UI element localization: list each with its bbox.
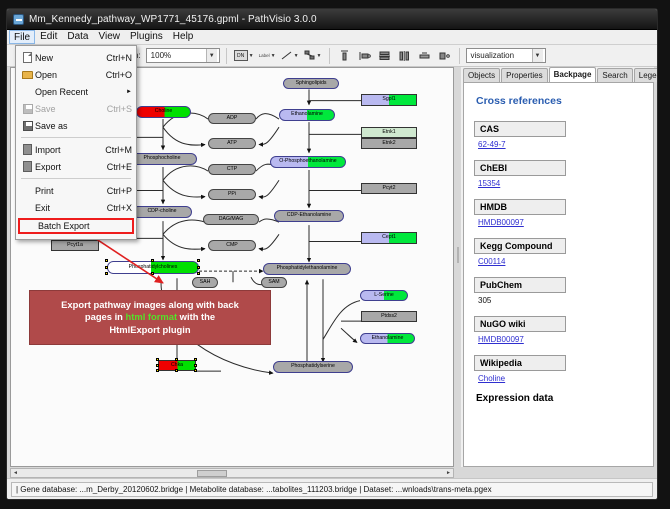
xref-link[interactable]: HMDB00097 — [478, 218, 524, 227]
pathway-node-phosphatidylethanolamine[interactable]: Phosphatidylethanolamine — [263, 263, 351, 275]
menu-separator — [21, 178, 131, 179]
zoom-value: 100% — [151, 51, 171, 60]
pathway-node-cmp[interactable]: CMP — [208, 240, 256, 251]
selection-handle[interactable] — [175, 369, 178, 372]
selection-handle[interactable] — [194, 358, 197, 361]
distribute-vertical-icon — [378, 50, 391, 62]
toolbar-divider — [226, 48, 227, 64]
file-menu-item-label: Batch Export — [38, 221, 128, 231]
common-size-icon — [438, 50, 451, 62]
xref-header: ChEBI — [474, 160, 566, 176]
pathway-node-label: Ptdss2 — [381, 314, 397, 319]
xref-value[interactable]: 15354 — [478, 179, 643, 188]
pathway-node-label: Pcyt1a — [67, 243, 83, 248]
xref-header: Wikipedia — [474, 355, 566, 371]
selection-handle[interactable] — [105, 259, 108, 262]
title-bar: Mm_Kennedy_pathway_WP1771_45176.gpml - P… — [7, 9, 657, 30]
file-menu-item-import[interactable]: ImportCtrl+M — [16, 141, 136, 158]
pathway-node-label: Etnk2 — [382, 141, 395, 146]
file-menu-item-label: Exit — [35, 203, 107, 213]
annotation-callout: Export pathway images along with back pa… — [29, 290, 271, 345]
callout-line-2-a: pages in — [85, 311, 126, 322]
import-icon — [20, 144, 35, 155]
xref-header: NuGO wiki — [474, 316, 566, 332]
export-icon — [20, 161, 35, 172]
new-document-icon — [20, 52, 35, 63]
pathway-node-l-serine[interactable]: L-Serine — [360, 290, 408, 301]
visualization-value: visualization — [471, 51, 515, 60]
pathway-node-adp[interactable]: ADP — [208, 113, 256, 124]
file-menu-item-label: Open Recent — [35, 87, 126, 97]
pathway-node-label: Pcyt2 — [383, 186, 396, 191]
selection-handle[interactable] — [151, 259, 154, 262]
callout-line-2-b: with the — [177, 311, 215, 322]
file-menu-item-shortcut: Ctrl+X — [107, 203, 132, 213]
xref-group-kegg: Kegg Compound C00114 — [474, 236, 643, 266]
pathway-node-choline[interactable]: Choline — [136, 106, 191, 118]
xref-link[interactable]: C00114 — [478, 257, 505, 266]
pathway-node-label: Chka — [171, 363, 183, 368]
file-menu-item-shortcut: Ctrl+P — [107, 186, 132, 196]
pathway-node-label: SAH — [200, 280, 211, 285]
xref-group-wikipedia: Wikipedia Choline — [474, 353, 643, 383]
pathway-node-phosphocholine[interactable]: Phosphocholine — [127, 153, 197, 165]
zoom-combo[interactable]: 100% ▼ — [146, 48, 220, 63]
selection-handle[interactable] — [156, 358, 159, 361]
pathway-node-label: CTP — [227, 167, 237, 172]
xref-header: HMDB — [474, 199, 566, 215]
align-top-icon — [338, 50, 351, 62]
xref-link[interactable]: 15354 — [478, 179, 500, 188]
status-bar: | Gene database: ...m_Derby_20120602.bri… — [7, 478, 657, 499]
file-menu-item-save[interactable]: SaveCtrl+S — [16, 100, 136, 117]
backpage-content: Cross references CAS 62-49-7 ChEBI 15354… — [463, 82, 654, 467]
stack-button[interactable] — [416, 47, 433, 64]
pathway-node-pcyt1a[interactable]: Pcyt1a — [51, 240, 99, 251]
distribute-horizontal-button[interactable] — [396, 47, 413, 64]
pathway-node-phosphatidylserine[interactable]: Phosphatidylserine — [273, 361, 353, 373]
xref-header: Kegg Compound — [474, 238, 566, 254]
file-menu-item-label: New — [35, 53, 106, 63]
callout-line-1: Export pathway images along with back — [61, 299, 239, 311]
pathway-node-label: Phosphatidylethanolamine — [277, 266, 338, 271]
toolbar-divider — [329, 48, 330, 64]
pathway-node-ppi[interactable]: PPi — [208, 189, 256, 200]
menu-plugins[interactable]: Plugins — [125, 30, 168, 44]
pathway-node-label: SAM — [268, 280, 279, 285]
file-menu-item-label: Export — [35, 162, 107, 172]
window-title: Mm_Kennedy_pathway_WP1771_45176.gpml - P… — [29, 14, 317, 25]
menu-view[interactable]: View — [93, 30, 125, 44]
tab-backpage[interactable]: Backpage — [549, 67, 597, 82]
label-icon: Label — [259, 53, 270, 58]
pathway-node-label: CMP — [226, 243, 238, 248]
selection-handle[interactable] — [194, 369, 197, 372]
xref-link[interactable]: HMDB00097 — [478, 335, 524, 344]
menu-bar: File Edit Data View Plugins Help — [7, 30, 657, 45]
pathway-node-label: Ethanolamine — [291, 112, 323, 117]
chevron-down-icon: ▼ — [317, 53, 322, 59]
pathway-node-cdp-choline[interactable]: CDP-choline — [132, 206, 192, 218]
pathway-node-label: ADP — [227, 116, 238, 121]
status-text: | Gene database: ...m_Derby_20120602.bri… — [11, 482, 653, 497]
selection-handle[interactable] — [105, 272, 108, 275]
menu-edit[interactable]: Edit — [35, 30, 62, 44]
file-menu-item-shortcut: Ctrl+M — [105, 145, 132, 155]
callout-highlight: html format — [126, 311, 178, 322]
side-panel-tabs: Objects Properties Backpage Search Legen… — [461, 67, 654, 82]
file-menu-item-exit[interactable]: ExitCtrl+X — [16, 199, 136, 216]
pathway-node-sgpl1[interactable]: Sgpl1 — [361, 94, 417, 106]
xref-link[interactable]: 62-49-7 — [478, 140, 506, 149]
pathvisio-window: Mm_Kennedy_pathway_WP1771_45176.gpml - P… — [6, 8, 658, 500]
chevron-down-icon: ▼ — [271, 53, 276, 59]
menu-data[interactable]: Data — [62, 30, 93, 44]
file-menu-item-label: Save — [35, 104, 107, 114]
tab-objects[interactable]: Objects — [463, 68, 500, 82]
pathway-node-etnk1[interactable]: Etnk1 — [361, 127, 417, 138]
tab-search[interactable]: Search — [597, 68, 632, 82]
tab-legend[interactable]: Legend — [634, 68, 658, 82]
file-menu-item-new[interactable]: NewCtrl+N — [16, 49, 136, 66]
file-menu-item-shortcut: Ctrl+N — [106, 53, 132, 63]
selection-handle[interactable] — [151, 272, 154, 275]
line-button[interactable]: ▼ — [280, 47, 300, 64]
distribute-horizontal-icon — [398, 50, 411, 62]
file-menu-item-label: Import — [35, 145, 105, 155]
chevron-down-icon: ▼ — [532, 49, 543, 62]
file-menu-item-print[interactable]: PrintCtrl+P — [16, 182, 136, 199]
selection-handle[interactable] — [197, 266, 200, 269]
xref-header: CAS — [474, 121, 566, 137]
file-menu-item-batch-export[interactable]: Batch Export — [18, 218, 134, 234]
pathway-node-o-phosphoethanolamine[interactable]: O-Phosphoethanolamine — [270, 156, 346, 168]
tab-properties[interactable]: Properties — [501, 68, 547, 82]
selection-handle[interactable] — [105, 266, 108, 269]
open-folder-icon — [20, 71, 35, 79]
selection-handle[interactable] — [194, 364, 197, 367]
cross-references-title: Cross references — [476, 95, 643, 107]
pathway-node-atp[interactable]: ATP — [208, 138, 256, 149]
xref-header: PubChem — [474, 277, 566, 293]
xref-group-hmdb: HMDB HMDB00097 — [474, 197, 643, 227]
selection-handle[interactable] — [197, 272, 200, 275]
file-menu-item-label: Print — [35, 186, 107, 196]
file-menu-item-label: Open — [35, 70, 106, 80]
pathway-node-label: Phosphocholine — [144, 156, 181, 161]
menu-file[interactable]: File — [9, 30, 35, 44]
pathway-node-label: Sgpl1 — [382, 97, 395, 102]
common-size-button[interactable] — [436, 47, 453, 64]
pathway-node-ctp[interactable]: CTP — [208, 164, 256, 175]
xref-value[interactable]: Choline — [478, 374, 643, 383]
align-left-button[interactable] — [356, 47, 373, 64]
datanode-icon: DN — [234, 50, 248, 61]
selection-handle[interactable] — [175, 358, 178, 361]
pathway-node-sah[interactable]: SAH — [192, 277, 218, 288]
xref-group-cas: CAS 62-49-7 — [474, 119, 643, 149]
menu-separator — [21, 137, 131, 138]
pathway-node-label: Choline — [155, 109, 173, 114]
menu-help[interactable]: Help — [168, 30, 199, 44]
chevron-right-icon: ► — [126, 89, 132, 95]
pathway-node-label: Cept1 — [382, 235, 396, 240]
file-menu-dropdown[interactable]: NewCtrl+NOpenCtrl+OOpen Recent►SaveCtrl+… — [15, 45, 137, 240]
pathway-node-label: ATP — [227, 141, 237, 146]
pathway-node-label: PPi — [228, 192, 236, 197]
pathway-node-sam[interactable]: SAM — [261, 277, 287, 288]
align-left-icon — [358, 50, 371, 62]
pathvisio-icon — [13, 14, 24, 25]
file-menu-item-label: Save as — [35, 121, 132, 131]
selection-handle[interactable] — [156, 369, 159, 372]
interaction-button[interactable]: ▼ — [303, 47, 323, 64]
chevron-down-icon: ▼ — [206, 49, 217, 62]
file-menu-item-shortcut: Ctrl+O — [106, 70, 132, 80]
pathway-node-ethanolamine2[interactable]: Ethanolamine — [360, 333, 415, 344]
pathway-node-sphingolipids[interactable]: Sphingolipids — [283, 78, 339, 89]
file-menu-item-save-as[interactable]: Save as — [16, 117, 136, 134]
xref-value[interactable]: HMDB00097 — [478, 218, 643, 227]
file-menu-item-open-recent[interactable]: Open Recent► — [16, 83, 136, 100]
file-menu-item-open[interactable]: OpenCtrl+O — [16, 66, 136, 83]
pathway-node-label: Etnk1 — [382, 130, 395, 135]
chevron-down-icon: ▼ — [294, 53, 299, 59]
selection-handle[interactable] — [197, 259, 200, 262]
chevron-down-icon: ▼ — [249, 53, 254, 59]
callout-line-2: pages in html format with the — [85, 311, 215, 323]
save-disk-icon — [20, 104, 35, 114]
callout-line-3: HtmlExport plugin — [109, 324, 190, 336]
stack-icon — [418, 50, 431, 62]
pathway-node-dagmag[interactable]: DAG/MAG — [203, 214, 259, 225]
distribute-vertical-button[interactable] — [376, 47, 393, 64]
pathway-node-label: CDP-Ethanolamine — [287, 213, 331, 218]
xref-value[interactable]: 62-49-7 — [478, 140, 643, 149]
pathway-node-ptdss2[interactable]: Ptdss2 — [361, 311, 417, 322]
xref-value: 305 — [478, 296, 643, 305]
label-button[interactable]: Label ▼ — [258, 47, 277, 64]
side-panel: Objects Properties Backpage Search Legen… — [461, 67, 654, 467]
expression-data-title: Expression data — [476, 393, 643, 404]
pathway-node-label: Phosphatidylcholines — [129, 265, 178, 270]
line-icon — [281, 50, 293, 61]
file-menu-item-shortcut: Ctrl+S — [107, 104, 132, 114]
xref-group-nugo: NuGO wiki HMDB00097 — [474, 314, 643, 344]
pathway-node-label: Ethanolamine — [372, 336, 404, 341]
align-top-button[interactable] — [336, 47, 353, 64]
scroll-right-icon[interactable]: ► — [444, 469, 453, 477]
file-menu-item-export[interactable]: ExportCtrl+E — [16, 158, 136, 175]
canvas-hscrollbar[interactable]: ◄ ► — [10, 468, 454, 478]
pathway-node-cdp-ethanolamine[interactable]: CDP-Ethanolamine — [274, 210, 344, 222]
screen-background: Mm_Kennedy_pathway_WP1771_45176.gpml - P… — [0, 0, 670, 509]
xref-group-chebi: ChEBI 15354 — [474, 158, 643, 188]
visualization-combo[interactable]: visualization ▼ — [466, 48, 546, 63]
toolbar-divider — [459, 48, 460, 64]
selection-handle[interactable] — [156, 364, 159, 367]
datanode-button[interactable]: DN ▼ — [233, 47, 255, 64]
pathway-node-pcyt2[interactable]: Pcyt2 — [361, 183, 417, 194]
save-disk-icon — [20, 121, 35, 131]
interaction-icon — [304, 50, 316, 61]
file-menu-item-shortcut: Ctrl+E — [107, 162, 132, 172]
scroll-thumb[interactable] — [197, 470, 227, 477]
pathway-node-label: DAG/MAG — [219, 217, 244, 222]
xref-value[interactable]: HMDB00097 — [478, 335, 643, 344]
pathway-node-label: CDP-choline — [147, 209, 176, 214]
pathway-node-label: Sphingolipids — [296, 81, 327, 86]
xref-link[interactable]: Choline — [478, 374, 505, 383]
pathway-node-etnk2[interactable]: Etnk2 — [361, 138, 417, 149]
pathway-node-label: O-Phosphoethanolamine — [279, 159, 336, 164]
pathway-node-label: L-Serine — [374, 293, 394, 298]
xref-value[interactable]: C00114 — [478, 257, 643, 266]
scroll-left-icon[interactable]: ◄ — [11, 469, 20, 477]
pathway-node-label: Phosphatidylserine — [291, 364, 335, 369]
pathway-node-ethanolamine[interactable]: Ethanolamine — [279, 109, 335, 121]
xref-group-pubchem: PubChem 305 — [474, 275, 643, 305]
pathway-node-cept1[interactable]: Cept1 — [361, 232, 417, 244]
